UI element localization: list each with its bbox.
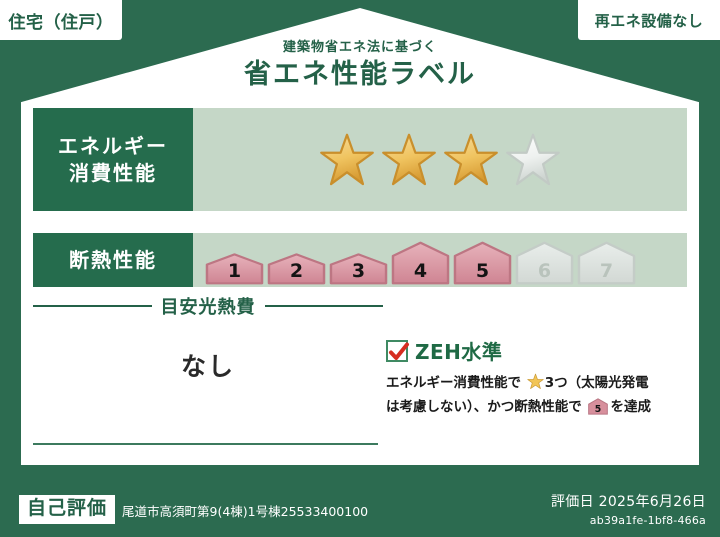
star-icon-filled — [381, 132, 437, 188]
dwelling-type-label: 住宅（住戸） — [9, 8, 114, 33]
zeh-desc-part3: を達成 — [610, 399, 651, 415]
energy-performance-label: 住宅（住戸） 再エネ設備なし 建築物省エネ法に基づく 省エネ性能ラベル エネルギ… — [0, 0, 720, 537]
insulation-level-value: 2 — [267, 262, 326, 281]
insulation-performance-label: 断熱性能 — [33, 233, 193, 287]
utility-cost-underline — [33, 443, 378, 445]
insulation-performance-value: 1234567 — [193, 233, 687, 287]
insulation-level-badge: 5 — [453, 241, 512, 285]
zeh-title-row: ZEH水準 — [386, 336, 686, 365]
insulation-performance-row: 断熱性能 1234567 — [33, 233, 687, 287]
renewable-equipment-label: 再エネ設備なし — [595, 10, 704, 31]
energy-performance-label-line-1: エネルギー — [58, 133, 168, 160]
insulation-level-value: 4 — [391, 262, 450, 281]
footer-left: 自己評価 尾道市高須町第9(4棟)1号棟25533400100 — [19, 495, 368, 524]
insulation-level-value: 6 — [515, 262, 574, 281]
zeh-standard-block: ZEH水準 エネルギー消費性能で 3つ（太陽光発電は考慮しない）、かつ断熱性能で… — [386, 336, 686, 422]
utility-cost-section: 目安光熱費 なし — [33, 293, 383, 383]
insulation-badge-inline-value: 5 — [595, 404, 602, 415]
dwelling-type-tag: 住宅（住戸） — [0, 0, 122, 40]
rule-right — [265, 305, 384, 307]
zeh-desc-star-count: 3つ（太陽光発電 — [545, 375, 649, 391]
rule-left — [33, 305, 152, 307]
zeh-desc-part2: は考慮しない）、かつ断熱性能で — [386, 399, 582, 415]
utility-cost-heading-row: 目安光熱費 — [33, 293, 383, 319]
insulation-level-badge: 3 — [329, 251, 388, 285]
insulation-badge-inline: 5 — [584, 403, 609, 419]
utility-cost-heading: 目安光熱費 — [161, 293, 256, 319]
building-address: 尾道市高須町第9(4棟)1号棟25533400100 — [122, 501, 368, 524]
star-icon-filled — [443, 132, 499, 188]
star-icon-inline — [522, 378, 544, 394]
zeh-title: ZEH水準 — [415, 336, 502, 365]
insulation-level-badge: 1 — [205, 251, 264, 285]
insulation-level-badge: 4 — [391, 241, 450, 285]
insulation-level-scale: 1234567 — [205, 233, 636, 287]
energy-performance-label: エネルギー消費性能 — [33, 108, 193, 211]
insulation-level-badge: 7 — [577, 241, 636, 285]
renewable-equipment-tag: 再エネ設備なし — [578, 0, 720, 40]
star-icon-filled — [319, 132, 375, 188]
footer-right: 評価日 2025年6月26日 ab39a1fe-1bf8-466a — [551, 491, 706, 527]
label-id: ab39a1fe-1bf8-466a — [551, 514, 706, 527]
utility-cost-value: なし — [33, 347, 383, 383]
zeh-desc-part1: エネルギー消費性能で — [386, 375, 521, 391]
zeh-description: エネルギー消費性能で 3つ（太陽光発電は考慮しない）、かつ断熱性能で 5 を達成 — [386, 373, 686, 422]
insulation-level-value: 5 — [453, 262, 512, 281]
insulation-level-badge: 6 — [515, 241, 574, 285]
energy-performance-label-line-2: 消費性能 — [69, 160, 157, 187]
star-icon-empty — [505, 132, 561, 188]
insulation-level-value: 7 — [577, 262, 636, 281]
check-icon — [386, 340, 408, 362]
insulation-level-value: 3 — [329, 262, 388, 281]
evaluation-date: 評価日 2025年6月26日 — [551, 491, 706, 511]
insulation-level-value: 1 — [205, 262, 264, 281]
energy-performance-row: エネルギー消費性能 — [33, 108, 687, 211]
energy-performance-value — [193, 108, 687, 211]
self-evaluation-tag: 自己評価 — [19, 495, 115, 524]
star-rating — [319, 132, 561, 188]
insulation-level-badge: 2 — [267, 251, 326, 285]
